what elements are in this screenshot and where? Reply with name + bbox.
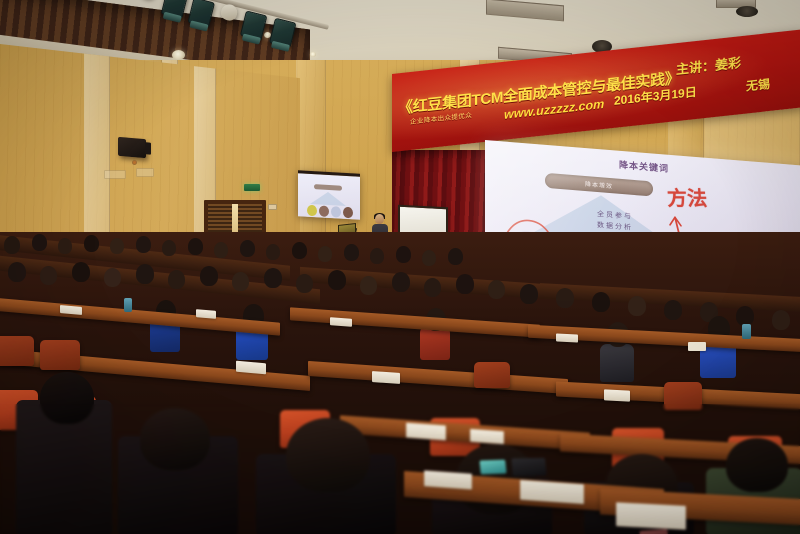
attendee-head: [370, 248, 384, 264]
attendee-head: [488, 280, 505, 299]
attendee-head: [40, 372, 94, 424]
attendee-head: [396, 246, 411, 263]
audience-seating: [0, 232, 800, 534]
attendee-head: [592, 292, 610, 312]
attendee-head: [214, 242, 228, 258]
wall-notice-plate: [268, 204, 277, 210]
desk-row: [290, 307, 540, 337]
handwriting-fangfa: 方法: [666, 182, 708, 212]
notebook-paper: [616, 502, 686, 530]
attendee-head: [328, 270, 346, 290]
attendee-head: [140, 408, 210, 470]
desk-row: [0, 297, 280, 335]
stage-lamp: [187, 0, 215, 28]
attendee-head: [232, 272, 249, 291]
notebook-paper: [196, 309, 216, 319]
stage-lamp: [240, 10, 268, 41]
exit-sign: [244, 184, 260, 191]
side-slide-pill: [314, 184, 342, 191]
auditorium-seat: [664, 382, 702, 410]
attendee-head: [296, 274, 313, 293]
desk-row: [308, 361, 568, 394]
notebook-paper: [556, 333, 578, 342]
attendee-head: [110, 238, 124, 254]
wall-notice-plate: [136, 168, 154, 177]
auditorium-seat: [474, 362, 510, 388]
notebook-paper: [470, 429, 504, 444]
wall-notice-plate: [104, 170, 126, 179]
attendee-head: [736, 306, 754, 326]
ceiling-recess: [736, 6, 758, 17]
notebook-paper: [424, 470, 472, 489]
attendee-head: [772, 310, 790, 330]
attendee-head: [286, 418, 370, 492]
attendee-head: [240, 240, 255, 257]
side-slide-bubble: [343, 207, 353, 219]
attendee-head: [72, 262, 90, 282]
phone-device[interactable]: [639, 529, 668, 534]
wall-notice-plate: [132, 160, 137, 165]
notebook-paper: [330, 317, 352, 327]
attendee-head: [200, 266, 218, 286]
attendee-head: [136, 236, 151, 253]
attendee-head: [520, 284, 538, 304]
attendee-head: [318, 246, 332, 262]
attendee-head: [424, 278, 441, 297]
ceiling-downlight: [172, 50, 185, 60]
side-slide-bubble: [331, 206, 341, 218]
attendee-head: [392, 272, 410, 292]
attendee-head: [4, 236, 20, 254]
auditorium-seat: [40, 340, 80, 370]
side-slide-bubble: [319, 205, 329, 217]
attendee-head: [456, 274, 474, 294]
attendee-head: [40, 266, 57, 285]
attendee-head: [188, 238, 203, 255]
banner-city: 无锡: [746, 75, 770, 95]
auditorium-seat: [0, 336, 34, 366]
attendee-head: [168, 270, 185, 289]
secondary-projection-screen: [298, 170, 360, 219]
attendee-head: [136, 264, 154, 284]
side-slide-bubble: [307, 205, 317, 217]
attendee-head: [8, 262, 26, 282]
attendee-head: [726, 438, 788, 492]
attendee-head: [628, 296, 646, 316]
attendee-head: [556, 288, 574, 308]
attendee-head: [58, 238, 72, 254]
attendee-body: [600, 344, 634, 382]
attendee-head: [448, 248, 463, 265]
attendee-head: [264, 268, 282, 288]
ceiling-vent: [486, 0, 564, 21]
speaker-head: [375, 214, 384, 224]
phone-screen[interactable]: [479, 460, 506, 475]
banner-speaker: 主讲：姜彩: [676, 52, 741, 78]
attendee-head: [32, 234, 47, 251]
auditorium-photo: 《红豆集团TCM全面成本管控与最佳实践》 企业降本出众提优众 www.uzzzz…: [0, 0, 800, 534]
wall-speaker-icon: [118, 137, 146, 158]
attendee-head: [664, 300, 682, 320]
notebook-paper: [372, 371, 400, 384]
attendee-head: [422, 250, 436, 266]
water-bottle: [124, 298, 132, 312]
attendee-head: [292, 242, 307, 259]
notebook-paper: [688, 342, 706, 351]
water-bottle: [742, 324, 751, 339]
stage-lamp: [269, 18, 297, 49]
attendee-head: [104, 268, 121, 287]
stage-lamp: [161, 0, 189, 19]
phone-device[interactable]: [511, 458, 546, 477]
attendee-head: [344, 244, 359, 261]
attendee-head: [266, 244, 280, 260]
attendee-head: [360, 276, 377, 295]
notebook-paper: [406, 423, 446, 441]
attendee-head: [162, 240, 176, 256]
attendee-head: [84, 235, 99, 252]
side-slide-triangle: [310, 191, 346, 206]
notebook-paper: [604, 389, 630, 401]
